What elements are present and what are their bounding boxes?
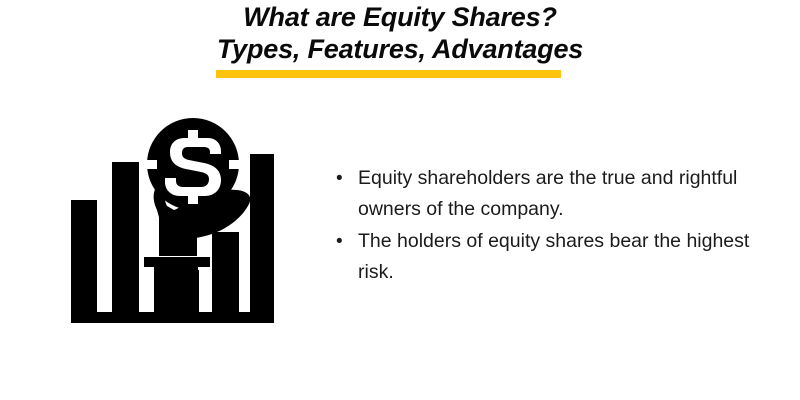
pedestal-plate-lower — [155, 270, 199, 276]
pedestal-column — [155, 276, 199, 313]
coin-dash-right — [229, 160, 239, 169]
chart-bar-4 — [212, 232, 239, 313]
title-underline-rule — [216, 70, 561, 78]
slide-canvas: What are Equity Shares? Types, Features,… — [0, 0, 800, 400]
chart-bar-5 — [250, 154, 274, 313]
chart-bar-1 — [71, 200, 97, 313]
list-item: • Equity shareholders are the true and r… — [330, 163, 760, 225]
chart-baseline — [71, 312, 274, 323]
bullet-point-icon: • — [336, 226, 350, 257]
coin-dash-left — [147, 160, 157, 169]
title-line-1: What are Equity Shares? — [0, 1, 800, 33]
title-line-2: Types, Features, Advantages — [0, 33, 800, 65]
pedestal-plate — [144, 257, 210, 267]
list-item-text: The holders of equity shares bear the hi… — [358, 226, 760, 288]
page-title: What are Equity Shares? Types, Features,… — [0, 0, 800, 65]
bullet-point-icon: • — [336, 163, 350, 194]
bar-chart-hand-coin-icon — [71, 118, 274, 323]
list-item: • The holders of equity shares bear the … — [330, 226, 760, 288]
list-item-text: Equity shareholders are the true and rig… — [358, 163, 760, 225]
bullet-list: • Equity shareholders are the true and r… — [330, 163, 760, 289]
chart-bar-2 — [112, 162, 139, 313]
